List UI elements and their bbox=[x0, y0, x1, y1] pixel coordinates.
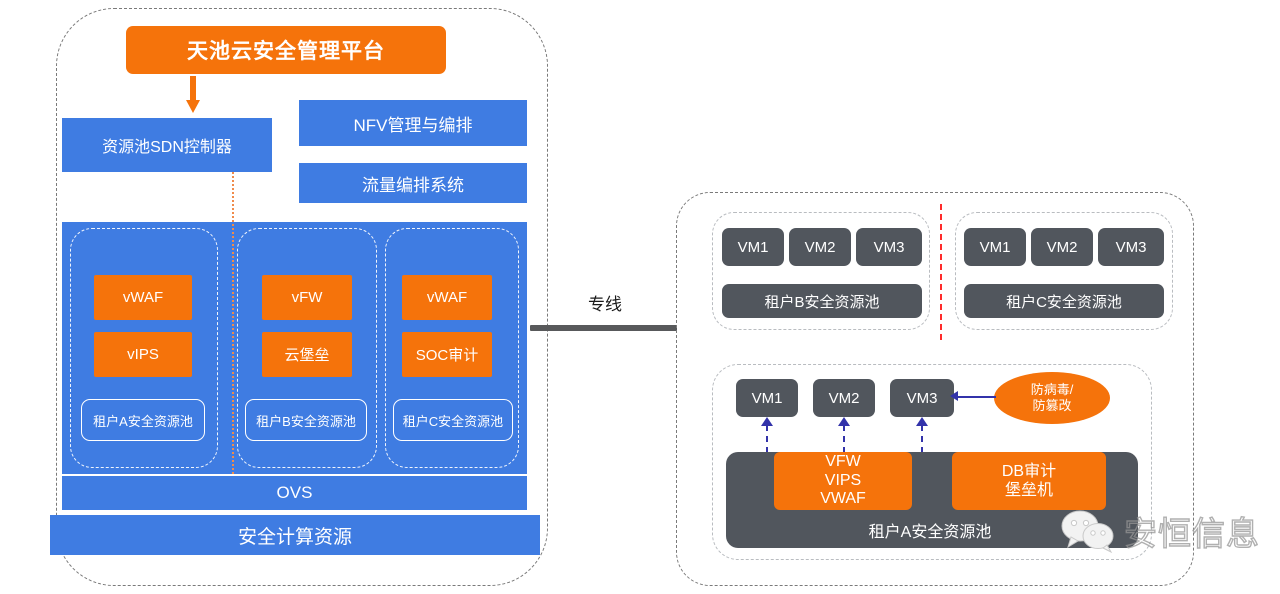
security-compute-resource-bar: 安全计算资源 bbox=[50, 515, 540, 555]
vm-chip-a3: VM3 bbox=[890, 379, 954, 417]
dedicated-line-connector bbox=[530, 325, 677, 331]
vm-chip-c3: VM3 bbox=[1098, 228, 1164, 266]
up-arrow-icon-vm3 bbox=[915, 417, 929, 453]
tenant-a-pool-label-right: 租户A安全资源池 bbox=[780, 518, 1080, 542]
diagram-canvas: 天池云安全管理平台 资源池SDN控制器 NFV管理与编排 流量编排系统 vWAF… bbox=[0, 0, 1280, 594]
tenant-isolation-divider bbox=[940, 204, 942, 340]
vm-chip-b2: VM2 bbox=[789, 228, 851, 266]
sdn-connector-line bbox=[232, 172, 234, 482]
vwaf-label: VWAF bbox=[820, 490, 866, 508]
tenant-b-pool-chip: 租户B安全资源池 bbox=[722, 284, 922, 318]
vips-label: VIPS bbox=[825, 472, 861, 490]
antivirus-line-2: 防篡改 bbox=[1032, 398, 1071, 414]
tenant-c-pool-label: 租户C安全资源池 bbox=[393, 399, 513, 441]
service-box-cloud-bastion-b: 云堡垒 bbox=[262, 332, 352, 377]
up-arrow-icon-vm1 bbox=[760, 417, 774, 453]
tenant-a-pool-label: 租户A安全资源池 bbox=[81, 399, 205, 441]
service-box-vwaf-a: vWAF bbox=[94, 275, 192, 320]
antivirus-arrow-icon bbox=[950, 391, 958, 401]
up-arrow-icon-vm2 bbox=[837, 417, 851, 453]
vm-chip-b3: VM3 bbox=[856, 228, 922, 266]
ovs-bar: OVS bbox=[62, 476, 527, 510]
vm-chip-a2: VM2 bbox=[813, 379, 875, 417]
sdn-controller-box: 资源池SDN控制器 bbox=[62, 118, 272, 172]
service-box-soc-audit-c: SOC审计 bbox=[402, 332, 492, 377]
vm-chip-c1: VM1 bbox=[964, 228, 1026, 266]
vfw-label: VFW bbox=[825, 453, 861, 471]
antivirus-line-1: 防病毒/ bbox=[1031, 382, 1074, 398]
platform-title-box: 天池云安全管理平台 bbox=[126, 26, 446, 74]
vm-chip-c2: VM2 bbox=[1031, 228, 1093, 266]
db-audit-label: DB审计 bbox=[1002, 462, 1056, 481]
tenant-c-pool-chip: 租户C安全资源池 bbox=[964, 284, 1164, 318]
antivirus-tamperproof-ellipse: 防病毒/ 防篡改 bbox=[994, 372, 1110, 424]
vm-chip-a1: VM1 bbox=[736, 379, 798, 417]
vfw-vips-vwaf-group: VFW VIPS VWAF bbox=[774, 452, 912, 510]
traffic-orchestration-box: 流量编排系统 bbox=[299, 163, 527, 203]
tenant-b-pool-label: 租户B安全资源池 bbox=[245, 399, 367, 441]
nfv-orchestration-box: NFV管理与编排 bbox=[299, 100, 527, 146]
service-box-vfw-b: vFW bbox=[262, 275, 352, 320]
service-box-vips-a: vIPS bbox=[94, 332, 192, 377]
db-audit-bastion-group: DB审计 堡垒机 bbox=[952, 452, 1106, 510]
vm-chip-b1: VM1 bbox=[722, 228, 784, 266]
dedicated-line-label: 专线 bbox=[560, 290, 650, 314]
service-box-vwaf-c: vWAF bbox=[402, 275, 492, 320]
bastion-label: 堡垒机 bbox=[1005, 481, 1053, 500]
platform-down-arrow-icon bbox=[186, 76, 200, 114]
antivirus-connector-line bbox=[954, 396, 996, 398]
